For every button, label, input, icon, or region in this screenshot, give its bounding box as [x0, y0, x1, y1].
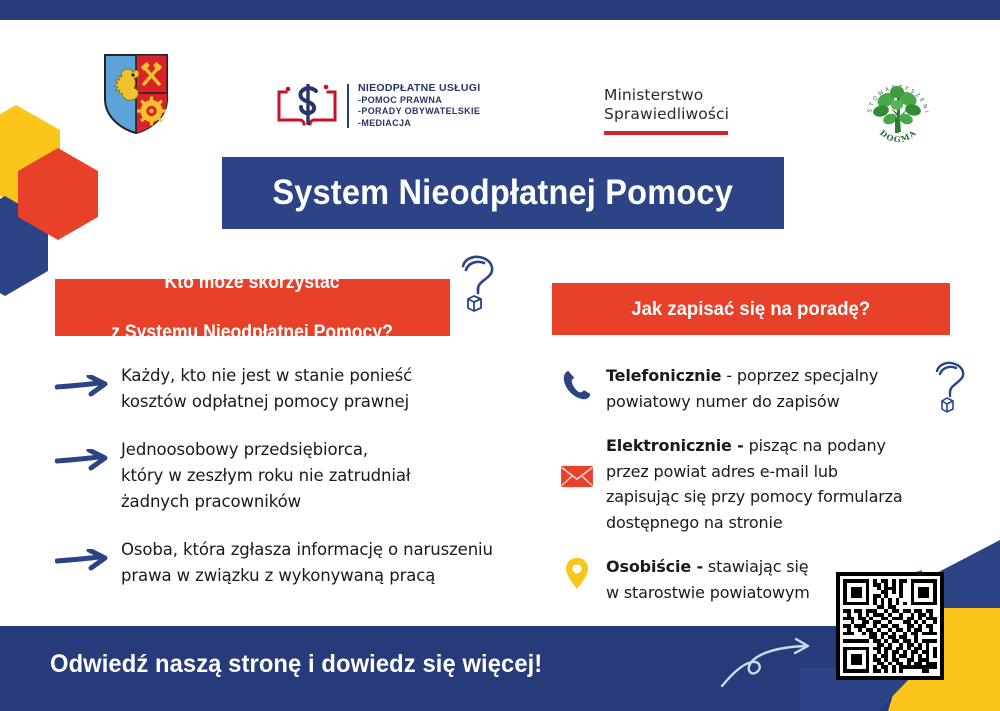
item-rest: pisząc na podany: [744, 436, 886, 455]
list-item: Telefonicznie - poprzez specjalny powiat…: [548, 363, 948, 414]
arrow-right-icon: [55, 537, 121, 576]
list-item-text: Jednoosobowy przedsiębiorca, który w zes…: [121, 437, 411, 515]
left-items-list: Każdy, kto nie jest w stanie ponieść kos…: [55, 363, 515, 611]
list-item: Jednoosobowy przedsiębiorca, który w zes…: [55, 437, 515, 515]
line: Telefonicznie - poprzez specjalny: [606, 363, 878, 389]
arrow-right-icon: [55, 363, 121, 402]
list-item-text: Każdy, kto nie jest w stanie ponieść kos…: [121, 363, 412, 415]
item-label: Telefonicznie: [606, 366, 721, 385]
footer-text: Odwiedź naszą stronę i dowiedz się więce…: [50, 650, 542, 679]
location-pin-icon: [548, 557, 606, 590]
line: dostępnego na stronie: [606, 510, 903, 536]
phone-icon: [548, 369, 606, 401]
left-heading-line-1: Kto może skorzystać: [112, 270, 394, 295]
logo-strip: NIEODPŁATNE USŁUGI -POMOC PRAWNA -PORADY…: [0, 28, 1000, 138]
arrow-right-icon: [55, 437, 121, 476]
coat-of-arms-icon: [103, 53, 169, 135]
nieodplatne-text-block: NIEODPŁATNE USŁUGI -POMOC PRAWNA -PORADY…: [358, 83, 480, 129]
line: prawa w związku z wykonywaną pracą: [121, 563, 493, 589]
item-rest: stawiając się: [703, 557, 809, 576]
right-heading-text: Jak zapisać się na poradę?: [632, 297, 871, 322]
logo-dogma: STOWARZYSZENIE DOGMA: [862, 78, 934, 150]
main-title-box: System Nieodpłatnej Pomocy: [222, 157, 784, 229]
line: Każdy, kto nie jest w stanie ponieść: [121, 363, 412, 389]
logo-ministerstwo-sprawiedliwosci: Ministerstwo Sprawiedliwości: [604, 86, 729, 135]
qr-code[interactable]: [836, 572, 944, 680]
left-section-heading: Kto może skorzystać z Systemu Nieodpłatn…: [55, 279, 450, 336]
list-item-text: Telefonicznie - poprzez specjalny powiat…: [606, 363, 878, 414]
list-item-text: Osoba, która zgłasza informację o narusz…: [121, 537, 493, 589]
np-line-3: -PORADY OBYWATELSKIE: [358, 106, 480, 118]
envelope-icon: [548, 465, 606, 488]
ministry-line-2: Sprawiedliwości: [604, 105, 729, 124]
logo-divider: [347, 84, 349, 128]
ministry-line-1: Ministerstwo: [604, 86, 729, 105]
item-label: Osobiście -: [606, 557, 703, 576]
item-label: Elektronicznie -: [606, 436, 744, 455]
line: powiatowy numer do zapisów: [606, 389, 878, 415]
line: który w zeszłym roku nie zatrudniał: [121, 463, 411, 489]
curly-arrow-icon: [718, 630, 820, 690]
line: zapisując się przy pomocy formularza: [606, 484, 903, 510]
line: Osoba, która zgłasza informację o narusz…: [121, 537, 493, 563]
list-item: Osoba, która zgłasza informację o narusz…: [55, 537, 515, 589]
item-rest: - poprzez specjalny: [721, 366, 878, 385]
np-line-1: NIEODPŁATNE USŁUGI: [358, 83, 480, 95]
list-item: Każdy, kto nie jest w stanie ponieść kos…: [55, 363, 515, 415]
ministry-red-rule: [604, 131, 728, 135]
line: przez powiat adres e-mail lub: [606, 459, 903, 485]
logo-nieodplatne-uslugi: NIEODPŁATNE USŁUGI -POMOC PRAWNA -PORADY…: [276, 80, 480, 132]
np-line-2: -POMOC PRAWNA: [358, 95, 480, 107]
line: kosztów odpłatnej pomocy prawnej: [121, 389, 412, 415]
list-item: Elektronicznie - pisząc na podany przez …: [548, 433, 948, 535]
list-item-text: Elektronicznie - pisząc na podany przez …: [606, 433, 903, 535]
line: w starostwie powiatowym: [606, 580, 810, 606]
top-navy-bar: [0, 0, 1000, 20]
page-title: System Nieodpłatnej Pomocy: [273, 173, 734, 213]
line: Elektronicznie - pisząc na podany: [606, 433, 903, 459]
line: Osobiście - stawiając się: [606, 554, 810, 580]
nieodplatne-mark-icon: [276, 80, 338, 132]
question-mark-icon: [455, 252, 503, 316]
line: żadnych pracowników: [121, 489, 411, 515]
list-item-text: Osobiście - stawiając się w starostwie p…: [606, 554, 810, 605]
poster-root: NIEODPŁATNE USŁUGI -POMOC PRAWNA -PORADY…: [0, 0, 1000, 711]
right-section-heading: Jak zapisać się na poradę?: [552, 283, 950, 335]
line: Jednoosobowy przedsiębiorca,: [121, 437, 411, 463]
left-heading-line-2: z Systemu Nieodpłatnej Pomocy?: [112, 320, 394, 345]
np-line-4: -MEDIACJA: [358, 118, 480, 130]
